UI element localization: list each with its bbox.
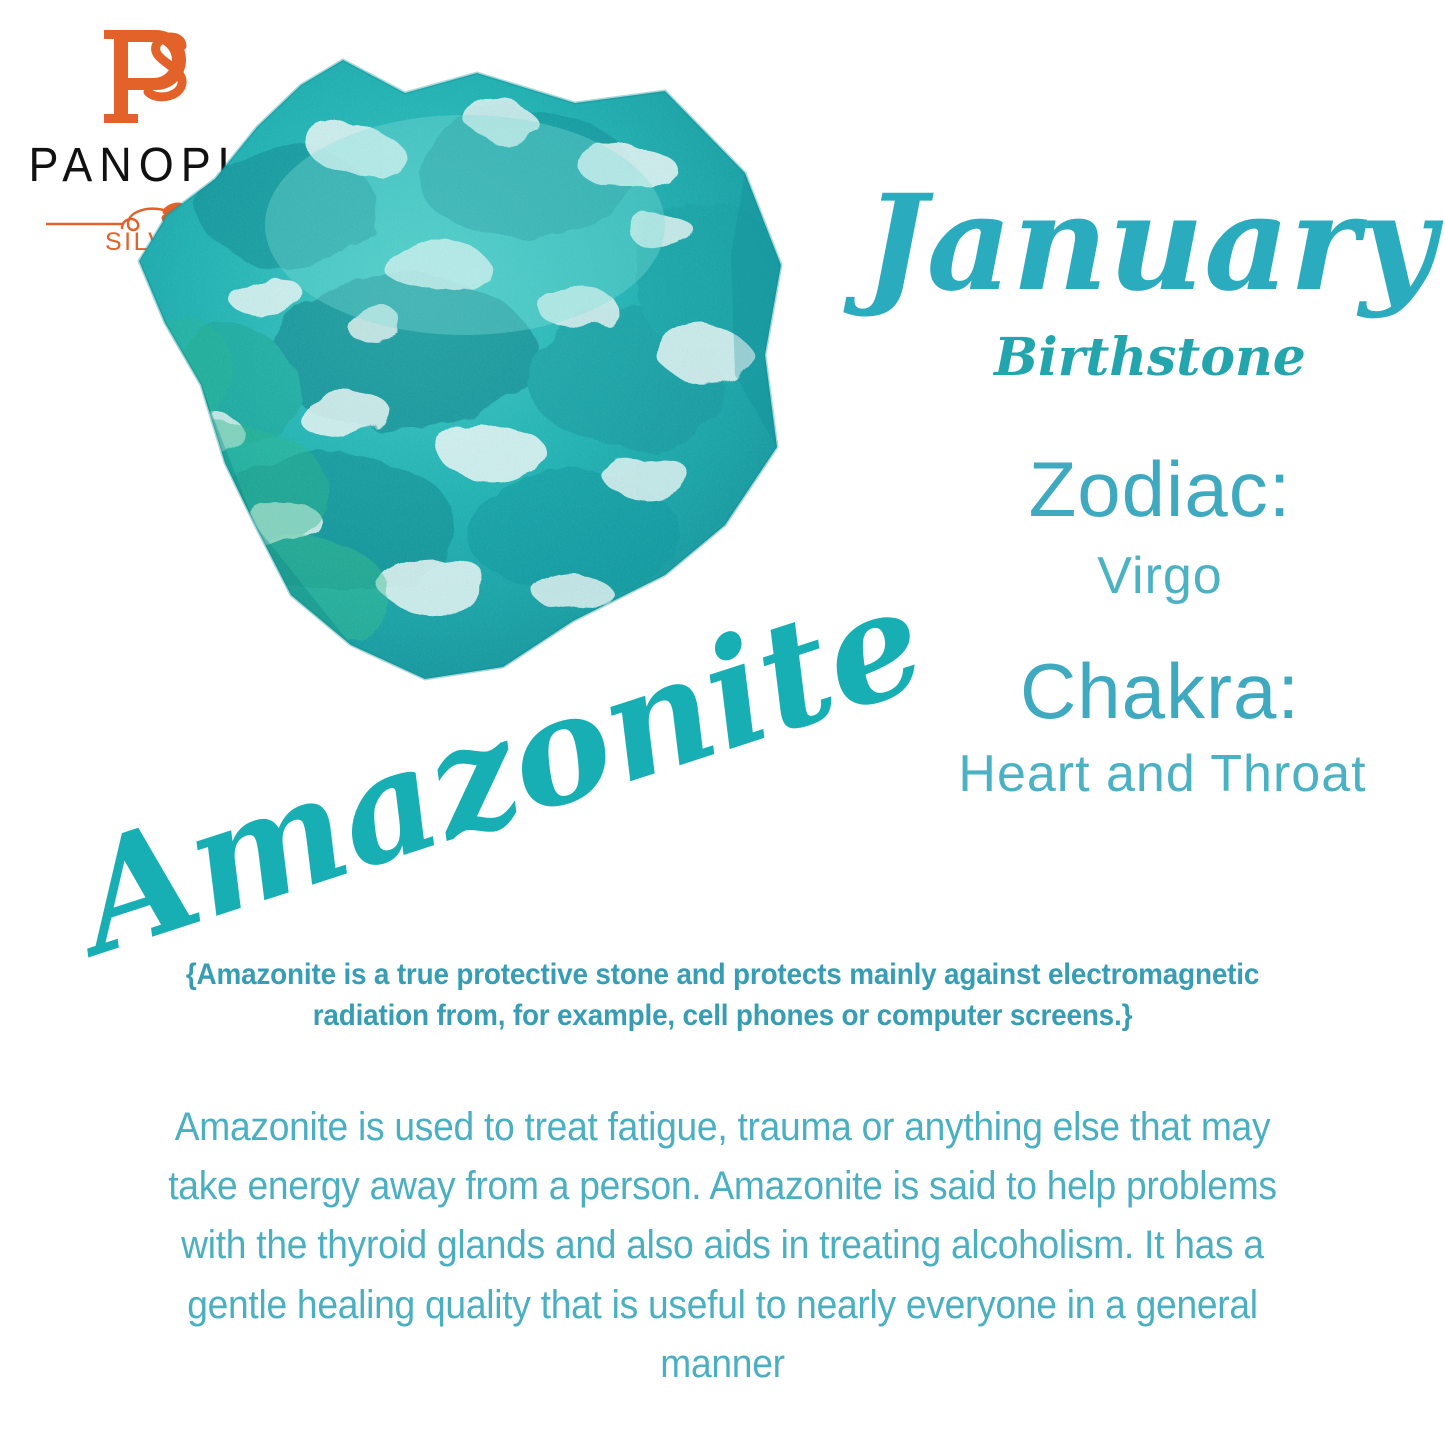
zodiac-value: Virgo xyxy=(880,550,1440,602)
protective-note: {Amazonite is a true protective stone an… xyxy=(140,955,1305,1036)
month-title: January xyxy=(855,178,1445,310)
month-subtitle: Birthstone xyxy=(855,332,1445,384)
birthstone-infographic: PANOPLY SILVER xyxy=(0,0,1445,1445)
chakra-value: Heart and Throat xyxy=(880,748,1445,800)
zodiac-label: Zodiac: xyxy=(880,450,1440,528)
amazonite-stone-svg xyxy=(105,55,785,685)
amazonite-stone-image xyxy=(105,55,785,685)
chakra-label: Chakra: xyxy=(880,652,1440,730)
healing-note: Amazonite is used to treat fatigue, trau… xyxy=(140,1098,1305,1394)
